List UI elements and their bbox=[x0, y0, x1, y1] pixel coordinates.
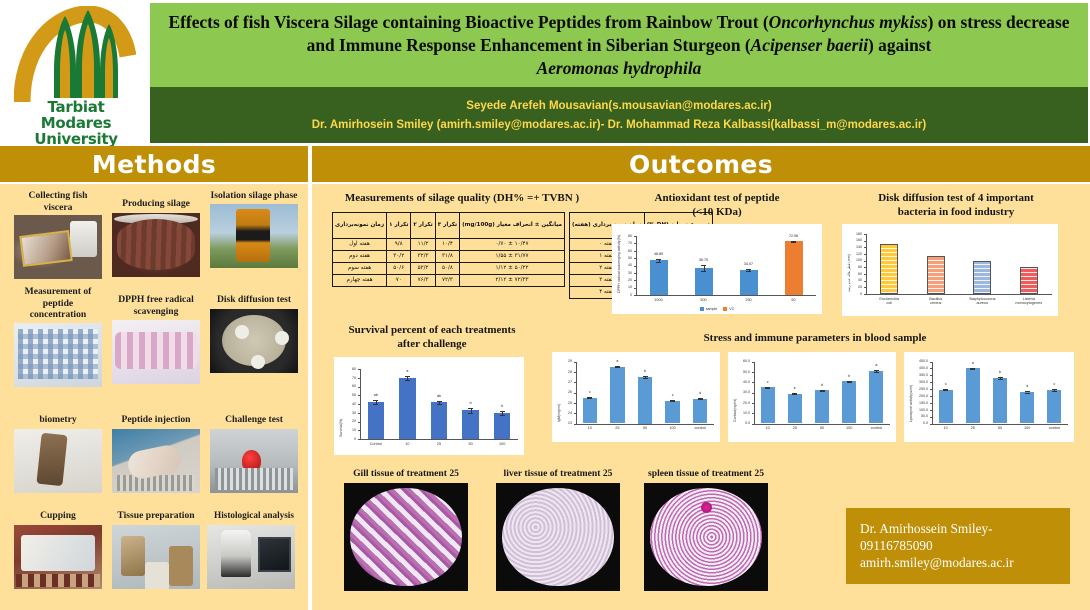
x-category-label: 100 bbox=[836, 426, 863, 430]
contact-name: Dr. Amirhossein Smiley- bbox=[860, 520, 1056, 537]
y-tick bbox=[574, 403, 576, 404]
bar bbox=[650, 260, 668, 295]
bar bbox=[1020, 392, 1034, 424]
y-tick-label: 40 bbox=[842, 278, 862, 282]
poster-header: Tarbiat Modares University Effects of fi… bbox=[0, 0, 1090, 145]
y-tick bbox=[864, 261, 866, 262]
y-tick-label: 23 bbox=[552, 421, 572, 425]
table-cell: ۳۱/۸ bbox=[435, 250, 459, 262]
error-cap bbox=[746, 271, 751, 272]
y-tick-label: 60.0 bbox=[728, 359, 750, 363]
table-row: ۷۲/۳۳ ± ۲/۱۲۷۲/۳۷۶/۳۷۰هفته چهارم bbox=[333, 274, 565, 286]
bar-label: c bbox=[1038, 382, 1070, 386]
table-cell: ۷۲/۳۳ ± ۲/۱۲ bbox=[460, 274, 565, 286]
bar bbox=[842, 381, 856, 423]
poster-title: Effects of fish Viscera Silage containin… bbox=[158, 11, 1080, 80]
silage-quality-block: Measurements of silage quality (DH% =+ T… bbox=[332, 192, 592, 299]
x-category-label: 100 bbox=[486, 442, 518, 446]
y-tick-label: 0 bbox=[612, 293, 632, 297]
bar bbox=[927, 256, 945, 294]
x-axis bbox=[576, 424, 714, 425]
y-tick bbox=[358, 369, 360, 370]
method-caption: Histological analysis bbox=[207, 510, 301, 522]
y-tick bbox=[358, 430, 360, 431]
y-tick-label: 70 bbox=[334, 376, 356, 380]
author-line-2: Dr. Amirhosein Smiley (amirh.smiley@moda… bbox=[312, 119, 927, 131]
method-caption: Producing silage bbox=[112, 198, 200, 210]
x-category-label: 100 bbox=[1014, 426, 1041, 430]
histology-item-spleen: spleen tissue of treatment 25 bbox=[634, 468, 778, 591]
y-tick bbox=[864, 254, 866, 255]
y-tick bbox=[930, 389, 932, 390]
error-cap bbox=[998, 379, 1003, 380]
bar bbox=[431, 402, 447, 439]
title-species-1: Oncorhynchus mykiss bbox=[769, 12, 928, 32]
x-category-label: control bbox=[1041, 426, 1068, 430]
y-tick bbox=[634, 295, 636, 296]
bar bbox=[1020, 267, 1038, 294]
y-tick-label: 50.0 bbox=[728, 370, 750, 374]
silage-replicates-table: میانگین ± انحراف معیار (mg/100g)تکرار ۳ت… bbox=[332, 212, 565, 287]
error-cap bbox=[405, 380, 410, 381]
logo-mark-icon bbox=[14, 6, 136, 106]
method-caption: Peptide injection bbox=[112, 414, 200, 426]
y-tick-label: 100.0 bbox=[904, 408, 928, 412]
y-axis bbox=[360, 369, 361, 439]
logo-text: Tarbiat Modares University bbox=[10, 99, 142, 147]
y-tick bbox=[574, 362, 576, 363]
y-tick-label: 140 bbox=[842, 245, 862, 249]
histology-item-gill: Gill tissue of treatment 25 bbox=[334, 468, 478, 591]
y-tick bbox=[930, 410, 932, 411]
bar-label: 34.07 bbox=[733, 262, 765, 266]
microscope-field bbox=[350, 488, 462, 585]
error-cap bbox=[701, 271, 706, 272]
y-tick bbox=[634, 273, 636, 274]
x-category-label: Listeriamonocytogenes bbox=[1006, 297, 1053, 306]
bar-label: a bbox=[601, 359, 633, 363]
y-tick-label: 300.0 bbox=[904, 380, 928, 384]
y-tick bbox=[634, 258, 636, 259]
methods-section-banner: Methods bbox=[0, 146, 308, 182]
table-cell: ۵۰/۸ bbox=[435, 262, 459, 274]
poster-title-band: Effects of fish Viscera Silage containin… bbox=[150, 3, 1088, 87]
table-header-cell: تکرار ۳ bbox=[435, 212, 459, 238]
y-tick bbox=[752, 424, 754, 425]
y-tick bbox=[930, 403, 932, 404]
bar-label: 46.89 bbox=[643, 252, 675, 256]
bar-label: d bbox=[684, 391, 716, 395]
method-item-peptide-injection: Peptide injection bbox=[112, 414, 200, 493]
title-species-2: Acipenser baerii bbox=[751, 35, 868, 55]
y-tick bbox=[930, 424, 932, 425]
error-cap bbox=[792, 394, 797, 395]
x-category-label: 25 bbox=[781, 426, 808, 430]
y-tick-label: 20.0 bbox=[728, 401, 750, 405]
bar bbox=[869, 371, 883, 424]
error-cap bbox=[698, 399, 703, 400]
y-tick bbox=[634, 266, 636, 267]
y-tick bbox=[930, 362, 932, 363]
method-photo-producing-silage bbox=[112, 213, 200, 277]
error-cap bbox=[943, 390, 948, 391]
error-cap bbox=[970, 369, 975, 370]
method-item-tissue-preparation: Tissue preparation bbox=[112, 510, 200, 589]
histology-photo-spleen bbox=[644, 483, 768, 591]
x-category-label: 100 bbox=[659, 426, 687, 430]
y-tick-label: 80 bbox=[612, 234, 632, 238]
method-photo-dpph-scavenging bbox=[112, 320, 200, 384]
method-item-disk-diffusion-test: Disk diffusion test bbox=[210, 294, 298, 373]
y-axis-label: IgM(mg/ml) bbox=[557, 403, 561, 421]
y-tick-label: 50.0 bbox=[904, 414, 928, 418]
error-cap bbox=[587, 398, 592, 399]
x-category-label: 50 bbox=[986, 426, 1013, 430]
x-category-label: 10 bbox=[932, 426, 959, 430]
table-header-row: میانگین ± انحراف معیار (mg/100g)تکرار ۳ت… bbox=[333, 212, 565, 238]
method-item-producing-silage: Producing silage bbox=[112, 198, 200, 277]
y-tick-label: 60 bbox=[334, 384, 356, 388]
bar-label: 36.79 bbox=[688, 258, 720, 262]
table-row: ۳۱/۷۷ ± ۱/۵۵۳۱/۸۳۲/۳۳۰/۲هفته دوم bbox=[333, 250, 565, 262]
y-tick bbox=[930, 368, 932, 369]
x-axis bbox=[932, 424, 1068, 425]
histology-photo-liver bbox=[496, 483, 620, 591]
y-tick bbox=[574, 372, 576, 373]
antioxidant-title: Antioxidant test of peptide (<10 KDa) bbox=[612, 192, 822, 219]
y-tick-label: 400.0 bbox=[904, 366, 928, 370]
y-tick-label: 10 bbox=[612, 285, 632, 289]
bar-label: 72.96 bbox=[778, 234, 810, 238]
bar bbox=[695, 268, 713, 295]
bar bbox=[880, 244, 898, 294]
disk-diffusion-title: Disk diffusion test of 4 important bacte… bbox=[842, 192, 1070, 219]
y-tick bbox=[752, 372, 754, 373]
y-tick-label: 40 bbox=[612, 263, 632, 267]
y-axis-label: DPPH radical scavenging activity(%) bbox=[617, 235, 621, 293]
x-category-label: 25 bbox=[959, 426, 986, 430]
contact-email: amirh.smiley@modares.ac.ir bbox=[860, 554, 1056, 571]
y-tick bbox=[358, 378, 360, 379]
histology-caption: Gill tissue of treatment 25 bbox=[334, 468, 478, 479]
y-tick bbox=[634, 236, 636, 237]
x-axis bbox=[360, 439, 518, 440]
table-cell: ۳۰/۲ bbox=[387, 250, 411, 262]
y-tick bbox=[864, 287, 866, 288]
y-tick-label: 0 bbox=[334, 437, 356, 441]
error-cap bbox=[670, 401, 675, 402]
error-cap bbox=[405, 376, 410, 377]
bar-label: b bbox=[455, 401, 487, 405]
histology-caption: liver tissue of treatment 25 bbox=[486, 468, 630, 479]
y-tick-label: 40.0 bbox=[728, 380, 750, 384]
error-cap bbox=[1052, 391, 1057, 392]
antioxidant-title-line1: Antioxidant test of peptide bbox=[612, 192, 822, 206]
error-cap bbox=[847, 382, 852, 383]
table-header-cell: میانگین ± انحراف معیار (mg/100g) bbox=[460, 212, 565, 238]
y-tick-label: 29 bbox=[552, 359, 572, 363]
method-photo-isolation-silage-phase bbox=[210, 204, 298, 268]
x-category-label: 50 bbox=[771, 298, 816, 302]
y-tick-label: 160 bbox=[842, 238, 862, 242]
y-tick-label: 30 bbox=[612, 271, 632, 275]
error-cap bbox=[874, 370, 879, 371]
authors-band: Seyede Arefeh Mousavian(s.mousavian@moda… bbox=[150, 87, 1088, 143]
methods-panel: Collecting fish viscera Producing silage… bbox=[0, 184, 308, 610]
y-axis-label: Lysozyme activity(u/ml) bbox=[909, 384, 913, 421]
x-category-label: control bbox=[863, 426, 890, 430]
bar-label: c bbox=[574, 390, 606, 394]
microscope-field bbox=[502, 488, 614, 585]
y-tick-label: 20 bbox=[334, 419, 356, 423]
methods-grid: Collecting fish viscera Producing silage… bbox=[14, 190, 298, 604]
x-category-label: 50 bbox=[631, 426, 659, 430]
bar bbox=[665, 401, 679, 424]
y-tick-label: 28 bbox=[552, 370, 572, 374]
disk-title-line2: bacteria in food industry bbox=[842, 206, 1070, 220]
y-tick-label: 250.0 bbox=[904, 387, 928, 391]
bar bbox=[788, 394, 802, 424]
table-row: ۵۰/۲۲ ± ۱/۱۲۵۰/۸۵۲/۲۵۰/۶هفته سوم bbox=[333, 262, 565, 274]
method-caption: Measurement of peptide concentration bbox=[14, 286, 102, 321]
outcomes-banner-label: Outcomes bbox=[629, 150, 773, 179]
y-tick bbox=[930, 417, 932, 418]
method-item-biometry: biometry bbox=[14, 414, 102, 493]
method-photo-cupping bbox=[14, 525, 102, 589]
table-cell: هفته سوم bbox=[333, 262, 387, 274]
y-tick-label: 10.0 bbox=[728, 411, 750, 415]
table-cell: هفته دوم bbox=[333, 250, 387, 262]
y-axis-label: Cortisol(ng/ml) bbox=[733, 398, 737, 421]
table-header-cell: زمان نمونه‌برداری bbox=[333, 212, 387, 238]
silage-table-title: Measurements of silage quality (DH% =+ T… bbox=[332, 192, 592, 206]
method-photo-biometry bbox=[14, 429, 102, 493]
methods-banner-label: Methods bbox=[92, 150, 216, 179]
table-header-cell: تکرار ۲ bbox=[411, 212, 435, 238]
y-tick bbox=[358, 439, 360, 440]
bar bbox=[966, 368, 980, 423]
y-tick bbox=[864, 247, 866, 248]
y-tick-label: 27 bbox=[552, 380, 572, 384]
table-cell: ۹/۸ bbox=[387, 238, 411, 250]
y-tick-label: 0.0 bbox=[904, 421, 928, 425]
outcomes-section-banner: Outcomes bbox=[312, 146, 1090, 182]
logo-line-1: Tarbiat Modares bbox=[10, 99, 142, 131]
survival-block: Survival percent of each treatments afte… bbox=[334, 324, 530, 455]
bar bbox=[761, 387, 775, 423]
error-cap bbox=[701, 265, 706, 266]
method-item-cupping: Cupping bbox=[14, 510, 102, 589]
method-item-challenge-test: Challenge test bbox=[210, 414, 298, 493]
antioxidant-chart: 01020304050607080DPPH radical scavenging… bbox=[612, 224, 822, 314]
y-axis bbox=[866, 234, 867, 294]
contact-box: Dr. Amirhossein Smiley- 09116785090 amir… bbox=[846, 508, 1070, 584]
bar bbox=[462, 410, 478, 439]
x-category-label: control bbox=[686, 426, 714, 430]
error-cap bbox=[656, 259, 661, 260]
method-caption: Challenge test bbox=[210, 414, 298, 426]
bar bbox=[399, 378, 415, 439]
y-tick-label: 25 bbox=[552, 401, 572, 405]
cortisol-chart: 0.010.020.030.040.050.060.0Cortisol(ng/m… bbox=[728, 352, 896, 442]
table-body: ۱۰/۴۷ ± ۰/۷۰۱۰/۴۱۱/۲۹/۸هفته اول۳۱/۷۷ ± ۱… bbox=[333, 238, 565, 286]
error-cap bbox=[500, 415, 505, 416]
x-category-label: 50 bbox=[455, 442, 487, 446]
bar bbox=[973, 261, 991, 294]
bar bbox=[693, 399, 707, 424]
y-tick-label: 40 bbox=[334, 402, 356, 406]
method-photo-collecting-fish-viscera bbox=[14, 215, 102, 279]
title-species-3: Aeromonas hydrophila bbox=[537, 58, 702, 78]
y-tick-label: 80 bbox=[842, 265, 862, 269]
y-tick bbox=[634, 243, 636, 244]
table-cell: ۷۲/۳ bbox=[435, 274, 459, 286]
table-cell: ۱۰/۴ bbox=[435, 238, 459, 250]
y-tick bbox=[752, 362, 754, 363]
error-cap bbox=[615, 367, 620, 368]
igm-chart: 23242526272829IgM(mg/ml)c10a25b50c100dco… bbox=[552, 352, 720, 442]
y-tick-label: 80 bbox=[334, 367, 356, 371]
y-tick bbox=[752, 393, 754, 394]
y-axis-label: Survival(%) bbox=[339, 419, 343, 437]
x-category-label: 25 bbox=[604, 426, 632, 430]
antioxidant-title-line2: (<10 KDa) bbox=[612, 206, 822, 220]
bar bbox=[638, 377, 652, 424]
y-tick-label: 10 bbox=[334, 428, 356, 432]
bar-label: c bbox=[930, 382, 962, 386]
x-axis bbox=[636, 295, 816, 296]
y-tick bbox=[574, 382, 576, 383]
bar-label: ab bbox=[423, 394, 455, 398]
y-tick-label: 0.0 bbox=[728, 421, 750, 425]
error-cap bbox=[820, 391, 825, 392]
table-cell: ۵۰/۶ bbox=[387, 262, 411, 274]
y-tick bbox=[358, 387, 360, 388]
y-tick-label: 120 bbox=[842, 252, 862, 256]
method-caption: Tissue preparation bbox=[112, 510, 200, 522]
y-tick-label: 30.0 bbox=[728, 390, 750, 394]
title-part-1: Effects of fish Viscera Silage containin… bbox=[169, 12, 769, 32]
method-item-collecting-fish-viscera: Collecting fish viscera bbox=[14, 190, 102, 279]
y-tick bbox=[864, 267, 866, 268]
error-cap bbox=[746, 269, 751, 270]
x-category-label: Bacilluscereus bbox=[913, 297, 960, 306]
bar-label: a bbox=[860, 363, 892, 367]
y-tick bbox=[634, 251, 636, 252]
y-tick bbox=[864, 281, 866, 282]
bar-label: b bbox=[486, 404, 518, 408]
y-tick-label: 60 bbox=[842, 272, 862, 276]
error-cap bbox=[437, 404, 442, 405]
silage-quality-table: میانگین ± انحراف معیار (mg/100g)تکرار ۳ت… bbox=[332, 212, 592, 299]
author-line-1: Seyede Arefeh Mousavian(s.mousavian@moda… bbox=[466, 100, 771, 112]
method-caption: Collecting fish viscera bbox=[14, 190, 102, 213]
method-photo-tissue-preparation bbox=[112, 525, 200, 589]
table-cell: ۳۲/۳ bbox=[411, 250, 435, 262]
error-cap bbox=[373, 400, 378, 401]
x-category-label: Control bbox=[360, 442, 392, 446]
bar bbox=[740, 270, 758, 295]
y-axis bbox=[636, 236, 637, 295]
x-category-label: 250 bbox=[726, 298, 771, 302]
method-photo-peptide-injection bbox=[112, 429, 200, 493]
bar bbox=[583, 398, 597, 424]
bar-label: b bbox=[833, 374, 865, 378]
x-category-label: 500 bbox=[681, 298, 726, 302]
method-item-peptide-concentration: Measurement of peptide concentration bbox=[14, 286, 102, 387]
error-cap bbox=[643, 378, 648, 379]
table-cell: ۱۱/۲ bbox=[411, 238, 435, 250]
chart-legend: sampleVC bbox=[612, 307, 822, 311]
x-axis bbox=[866, 294, 1052, 295]
university-logo: Tarbiat Modares University bbox=[0, 0, 148, 145]
bar-label: a bbox=[957, 361, 989, 365]
table-cell: ۵۲/۲ bbox=[411, 262, 435, 274]
error-cap bbox=[874, 372, 879, 373]
x-category-label: 10 bbox=[576, 426, 604, 430]
stress-immune-block: Stress and immune parameters in blood sa… bbox=[552, 332, 1078, 442]
table-cell: ۵۰/۲۲ ± ۱/۱۲ bbox=[460, 262, 565, 274]
legend-item: VC bbox=[723, 307, 734, 311]
y-tick bbox=[864, 294, 866, 295]
x-category-label: 25 bbox=[423, 442, 455, 446]
y-tick-label: 20 bbox=[612, 278, 632, 282]
error-cap bbox=[437, 401, 442, 402]
y-tick bbox=[358, 413, 360, 414]
method-photo-histological-analysis bbox=[207, 525, 295, 589]
bar bbox=[993, 378, 1007, 423]
method-item-histological-analysis: Histological analysis bbox=[207, 510, 301, 589]
method-photo-disk-diffusion-test bbox=[210, 309, 298, 373]
y-tick-label: 20 bbox=[842, 285, 862, 289]
table-cell: ۷۶/۳ bbox=[411, 274, 435, 286]
y-tick-label: 60 bbox=[612, 249, 632, 253]
stress-immune-title: Stress and immune parameters in blood sa… bbox=[552, 332, 1078, 346]
y-tick bbox=[634, 280, 636, 281]
table-cell: ۱۰/۴۷ ± ۰/۷۰ bbox=[460, 238, 565, 250]
method-item-dpph-scavenging: DPPH free radical scavenging bbox=[112, 294, 200, 384]
y-tick bbox=[634, 288, 636, 289]
outcomes-panel: Measurements of silage quality (DH% =+ T… bbox=[312, 184, 1090, 610]
error-cap bbox=[373, 404, 378, 405]
method-caption: Disk diffusion test bbox=[210, 294, 298, 306]
y-tick-label: 100 bbox=[842, 258, 862, 262]
table-row: ۱۰/۴۷ ± ۰/۷۰۱۰/۴۱۱/۲۹/۸هفته اول bbox=[333, 238, 565, 250]
method-caption: DPPH free radical scavenging bbox=[112, 294, 200, 317]
method-caption: Cupping bbox=[14, 510, 102, 522]
contact-phone: 09116785090 bbox=[860, 537, 1056, 554]
bar-label: ab bbox=[360, 393, 392, 397]
x-category-label: Staphylococcusaureus bbox=[959, 297, 1006, 306]
bar bbox=[815, 390, 829, 423]
error-cap bbox=[791, 242, 796, 243]
bar bbox=[610, 367, 624, 424]
error-cap bbox=[765, 388, 770, 389]
disk-diffusion-chart: 020406080100120140160180قطر هاله عدم رشد… bbox=[842, 224, 1058, 316]
bar-label: a bbox=[391, 369, 423, 373]
survival-title: Survival percent of each treatments afte… bbox=[334, 324, 530, 351]
error-cap bbox=[656, 262, 661, 263]
y-tick-label: 150.0 bbox=[904, 401, 928, 405]
y-tick-label: 450.0 bbox=[904, 359, 928, 363]
x-category-label: 50 bbox=[808, 426, 835, 430]
method-photo-peptide-concentration bbox=[14, 323, 102, 387]
survival-chart: 01020304050607080Survival(%)abControla10… bbox=[334, 357, 524, 455]
title-part-3: ) against bbox=[868, 35, 931, 55]
x-category-label: 1000 bbox=[636, 298, 681, 302]
table-header-cell: تکرار ۱ bbox=[387, 212, 411, 238]
y-tick-label: 0 bbox=[842, 292, 862, 296]
